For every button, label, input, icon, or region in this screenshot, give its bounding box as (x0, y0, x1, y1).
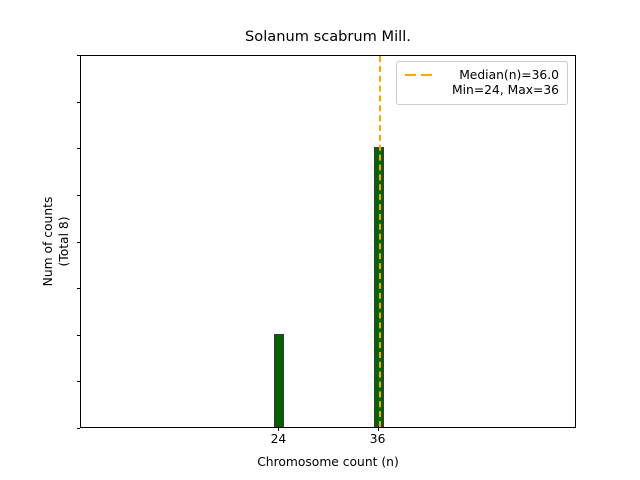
chart-title: Solanum scabrum Mill. (80, 28, 576, 45)
y-axis-label-line1: Num of counts (40, 55, 56, 428)
legend-line-1: Median(n)=36.0 (447, 68, 559, 83)
plot-area (80, 55, 576, 428)
y-tick-mark (77, 335, 81, 336)
y-tick-mark (77, 242, 81, 243)
legend-entry-text: Median(n)=36.0 Min=24, Max=36 (447, 68, 559, 98)
y-tick-mark (77, 428, 81, 429)
y-tick-mark (77, 55, 81, 56)
chart-figure: Solanum scabrum Mill. Chromosome count (… (0, 0, 640, 480)
y-tick-mark (77, 195, 81, 196)
x-tick-label: 24 (271, 433, 287, 445)
y-tick-mark (77, 148, 81, 149)
x-tick-mark (378, 428, 379, 432)
median-line (379, 56, 381, 427)
bar (274, 334, 284, 427)
y-tick-mark (77, 102, 81, 103)
x-tick-label: 36 (370, 433, 386, 445)
x-axis-label: Chromosome count (n) (80, 455, 576, 470)
legend: Median(n)=36.0 Min=24, Max=36 (396, 61, 568, 105)
y-tick-mark (77, 381, 81, 382)
legend-line-2: Min=24, Max=36 (447, 83, 559, 98)
median-line-swatch-icon (405, 68, 439, 83)
plot-inner (81, 56, 575, 427)
y-axis-label-line2: (Total 8) (56, 55, 72, 428)
legend-entry: Median(n)=36.0 Min=24, Max=36 (405, 68, 559, 98)
y-tick-mark (77, 288, 81, 289)
y-axis-label: Num of counts (Total 8) (40, 55, 72, 428)
x-tick-mark (278, 428, 279, 432)
